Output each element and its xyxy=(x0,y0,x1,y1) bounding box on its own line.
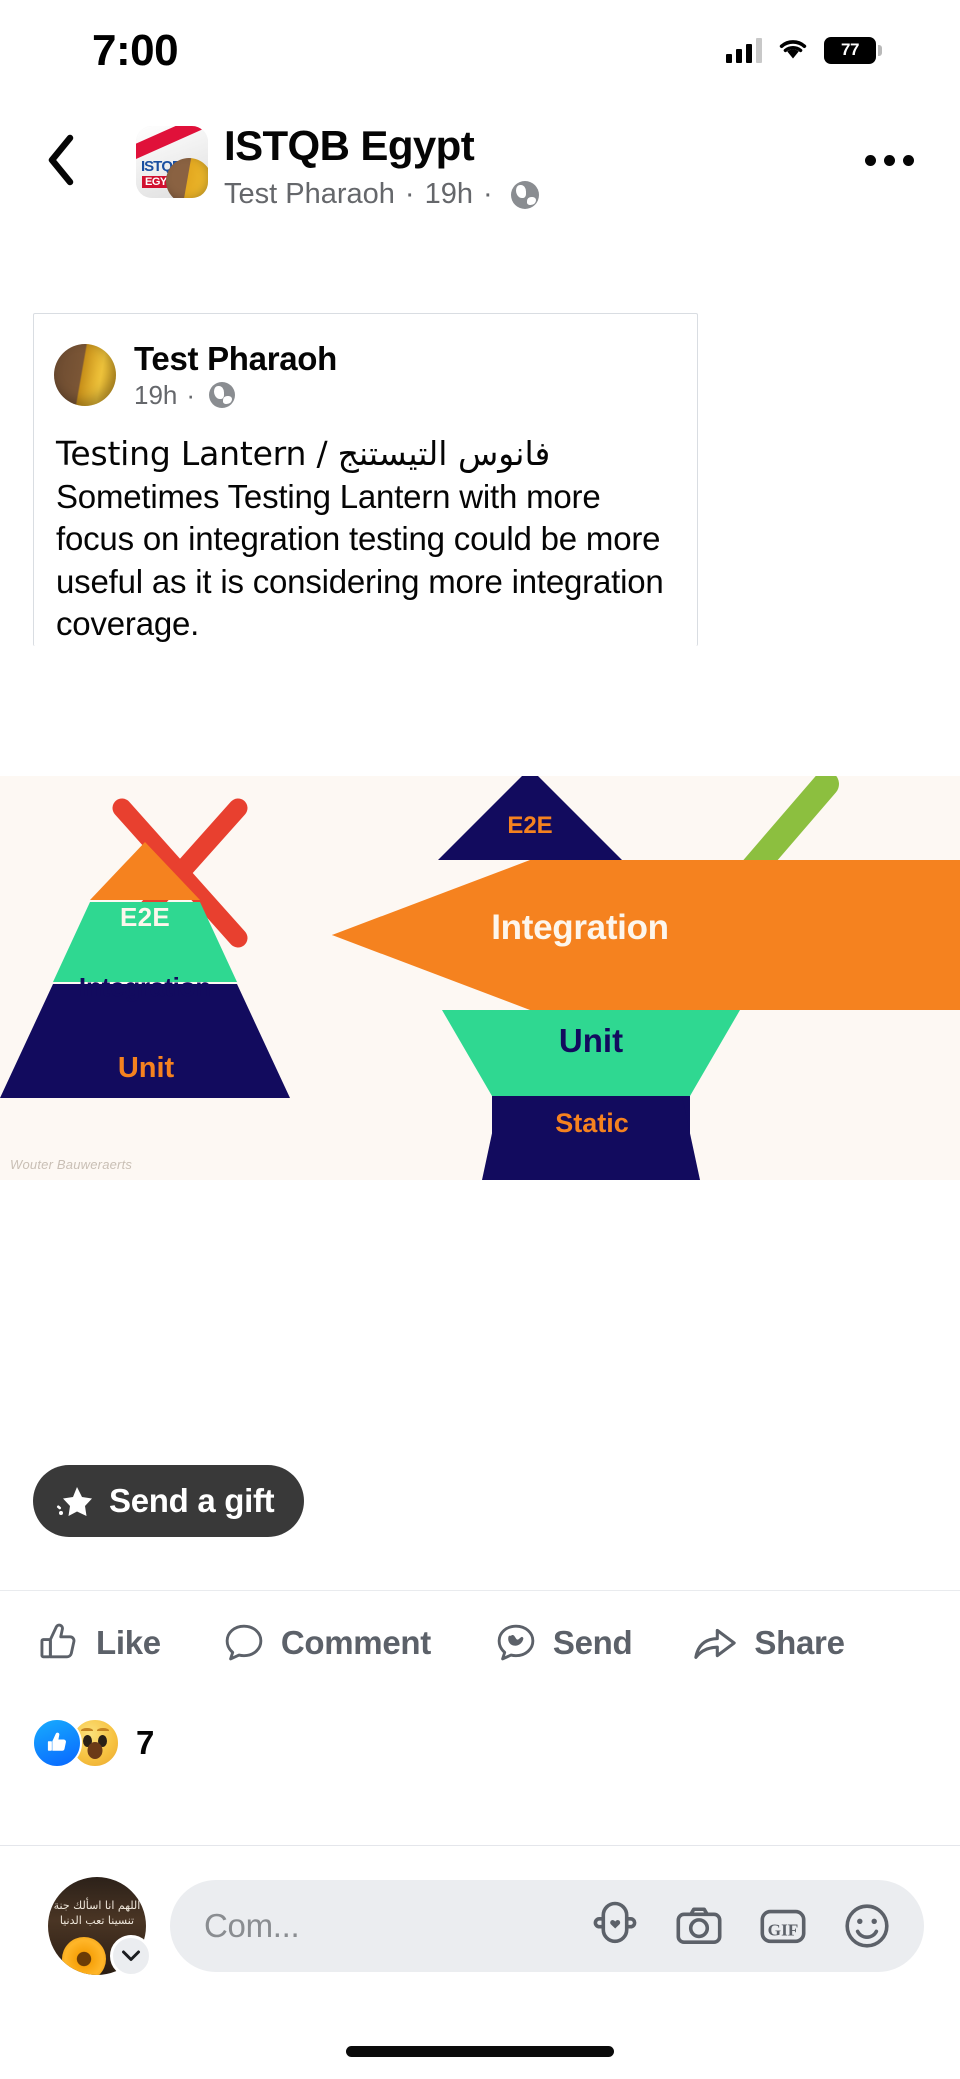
send-gift-button[interactable]: Send a gift xyxy=(33,1465,304,1537)
poster-name[interactable]: Test Pharaoh xyxy=(224,178,395,211)
send-button[interactable]: Send xyxy=(493,1620,632,1666)
camera-button[interactable] xyxy=(672,1899,726,1953)
more-options-icon xyxy=(903,155,914,166)
post-timestamp: 19h xyxy=(425,178,473,211)
page-subtitle: Test Pharaoh · 19h · xyxy=(224,178,539,211)
post-text: Testing Lantern / فانوس التيستنج Sometim… xyxy=(34,411,697,646)
reaction-count: 7 xyxy=(136,1724,154,1762)
avatar-sticker-button[interactable] xyxy=(588,1899,642,1953)
comment-input-placeholder: Com... xyxy=(204,1907,588,1945)
comment-composer: اللهم انا اسألك جنة تنسينا تعب الدنيا Co… xyxy=(0,1846,960,2006)
composer-icons: GIF xyxy=(588,1899,894,1953)
svg-text:GIF: GIF xyxy=(768,1921,799,1940)
page-avatar[interactable]: ISTQB EGY xyxy=(136,126,208,198)
separator-dot: · xyxy=(405,178,415,211)
wow-mouth xyxy=(88,1742,103,1759)
post-card: Test Pharaoh 19h · Testing Lantern / فان… xyxy=(33,313,698,646)
globe-icon xyxy=(209,382,235,408)
cellular-signal-icon xyxy=(726,37,762,63)
post-image[interactable]: E2E Integration Unit E2E Integration Uni… xyxy=(0,776,960,1180)
camera-icon xyxy=(672,1899,726,1953)
diagram-canvas: E2E Integration Unit E2E Integration Uni… xyxy=(0,776,960,1180)
reactions-summary[interactable]: 7 xyxy=(32,1718,154,1768)
emoji-icon xyxy=(840,1899,894,1953)
gif-button[interactable]: GIF xyxy=(756,1899,810,1953)
avatar-face-overlay xyxy=(166,158,208,198)
page-title[interactable]: ISTQB Egypt xyxy=(224,122,474,170)
like-button[interactable]: Like xyxy=(36,1620,161,1666)
battery-level: 77 xyxy=(841,40,859,60)
post-text-line-2: Sometimes Testing Lantern with more focu… xyxy=(56,476,675,646)
phone-screen: 7:00 77 IS xyxy=(0,0,960,2079)
share-arrow-icon xyxy=(690,1620,740,1666)
comment-bubble-icon xyxy=(221,1620,267,1666)
avatar-caption: اللهم انا اسألك جنة تنسينا تعب الدنيا xyxy=(48,1899,146,1929)
share-button[interactable]: Share xyxy=(690,1620,844,1666)
send-label: Send xyxy=(553,1624,632,1662)
post-author-block: Test Pharaoh 19h · xyxy=(134,340,337,411)
gif-icon: GIF xyxy=(756,1899,810,1953)
post-header: Test Pharaoh 19h · xyxy=(34,314,697,411)
gift-star-icon xyxy=(55,1482,93,1520)
lantern-label-static: Static xyxy=(504,1108,680,1139)
avatar-sticker-icon xyxy=(588,1899,642,1953)
pyramid-label-unit: Unit xyxy=(62,1052,230,1085)
comment-label: Comment xyxy=(281,1624,431,1662)
more-options-button[interactable] xyxy=(854,136,924,184)
pyramid-label-e2e: E2E xyxy=(106,902,184,933)
lantern-label-unit: Unit xyxy=(500,1022,682,1060)
wifi-icon xyxy=(776,35,810,66)
battery-icon: 77 xyxy=(824,37,876,64)
wow-brow-left xyxy=(81,1728,93,1733)
wow-brow-right xyxy=(97,1728,109,1733)
post-text-line-1: Testing Lantern / فانوس التيستنج xyxy=(56,433,675,476)
send-gift-label: Send a gift xyxy=(109,1482,274,1520)
lantern-label-e2e: E2E xyxy=(482,812,578,840)
avatar-flower xyxy=(62,1937,106,1975)
image-watermark: Wouter Bauweraerts xyxy=(10,1157,132,1172)
like-label: Like xyxy=(96,1624,161,1662)
thumbs-up-icon xyxy=(36,1620,82,1666)
lantern-label-integration: Integration xyxy=(420,908,740,948)
post-time: 19h xyxy=(134,380,177,411)
composer-avatar-wrapper[interactable]: اللهم انا اسألك جنة تنسينا تعب الدنيا xyxy=(48,1877,146,1975)
separator-dot-2: · xyxy=(483,178,493,211)
top-navigation-bar: ISTQB EGY ISTQB Egypt Test Pharaoh · 19h… xyxy=(0,100,960,220)
share-label: Share xyxy=(754,1624,844,1662)
avatar-switcher-button[interactable] xyxy=(110,1935,152,1977)
back-chevron-icon xyxy=(46,134,76,186)
messenger-send-icon xyxy=(493,1620,539,1666)
comment-button[interactable]: Comment xyxy=(221,1620,431,1666)
globe-icon xyxy=(511,181,539,209)
status-indicators: 77 xyxy=(726,30,876,70)
home-indicator xyxy=(346,2046,614,2057)
avatar[interactable] xyxy=(54,344,116,406)
chevron-down-icon xyxy=(121,1949,141,1963)
more-options-icon xyxy=(865,155,876,166)
status-time: 7:00 xyxy=(92,26,178,76)
back-button[interactable] xyxy=(32,128,90,192)
comment-input-field[interactable]: Com... xyxy=(170,1880,924,1972)
post-meta: 19h · xyxy=(134,380,337,411)
reaction-like-icon xyxy=(32,1718,82,1768)
more-options-icon xyxy=(884,155,895,166)
emoji-button[interactable] xyxy=(840,1899,894,1953)
status-bar: 7:00 77 xyxy=(0,0,960,96)
post-author-name[interactable]: Test Pharaoh xyxy=(134,340,337,378)
pyramid-label-integration: Integration xyxy=(68,972,222,1003)
separator-dot: · xyxy=(186,380,195,411)
post-action-bar: Like Comment Send Share xyxy=(0,1590,960,1694)
